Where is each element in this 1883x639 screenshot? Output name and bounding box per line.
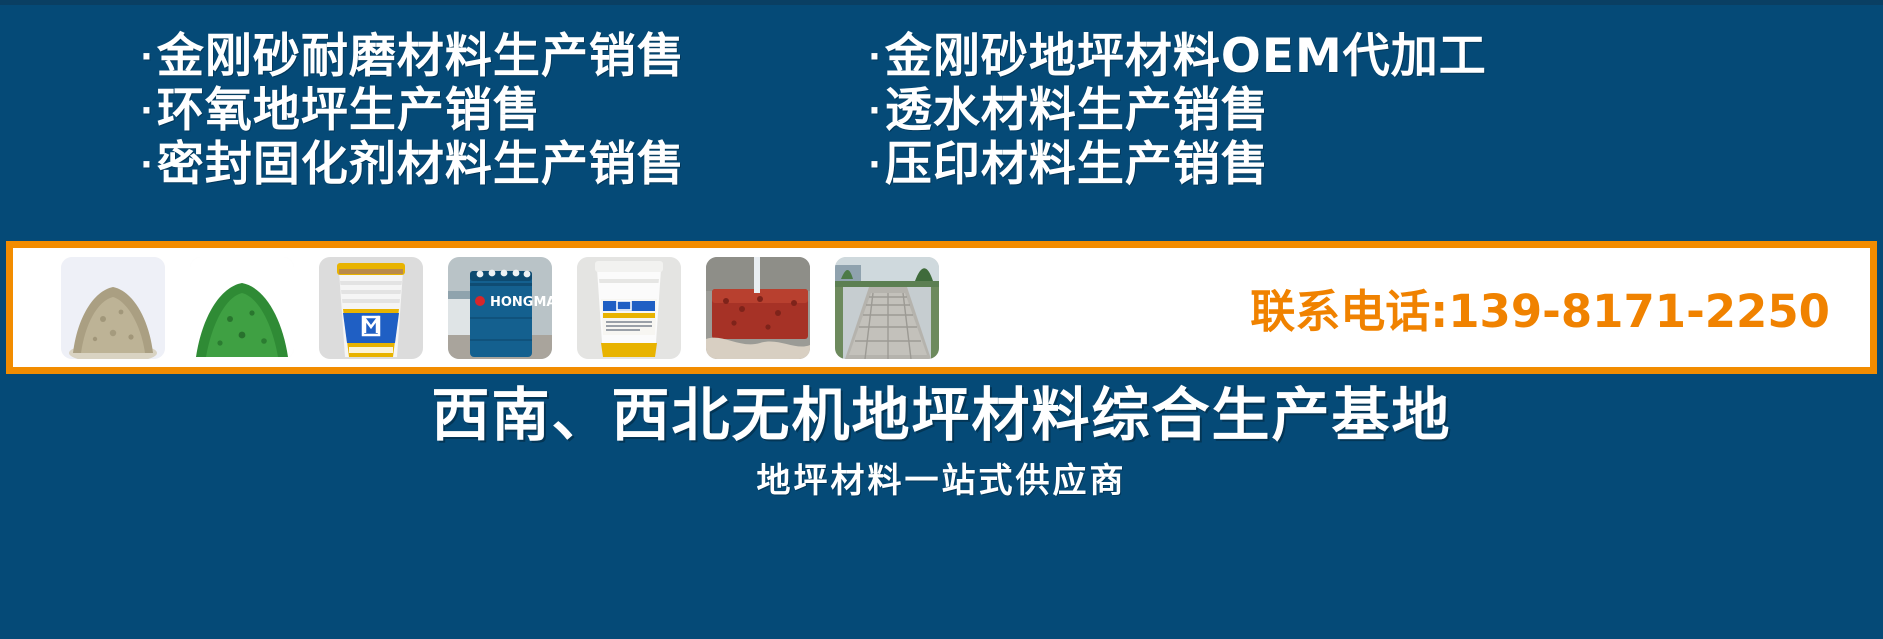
service-item: · 金刚砂耐磨材料生产销售 bbox=[140, 30, 860, 84]
page-title: 西南、西北无机地坪材料综合生产基地 bbox=[0, 382, 1883, 448]
service-list: · 金刚砂耐磨材料生产销售 · 环氧地坪生产销售 · 密封固化剂材料生产销售 ·… bbox=[0, 30, 1883, 225]
service-item-label: 金刚砂地坪材料OEM代加工 bbox=[885, 30, 1487, 84]
bullet-dot-icon: · bbox=[868, 138, 882, 192]
service-column-right: · 金刚砂地坪材料OEM代加工 · 透水材料生产销售 · 压印材料生产销售 bbox=[860, 30, 1883, 225]
bullet-dot-icon: · bbox=[140, 84, 154, 138]
bullet-dot-icon: · bbox=[140, 30, 154, 84]
service-column-left: · 金刚砂耐磨材料生产销售 · 环氧地坪生产销售 · 密封固化剂材料生产销售 bbox=[0, 30, 860, 225]
service-item: · 环氧地坪生产销售 bbox=[140, 84, 860, 138]
bullet-dot-icon: · bbox=[140, 138, 154, 192]
product-thumbnail-sealer-pail bbox=[319, 257, 423, 359]
product-thumbnail-stamped-pavement bbox=[835, 257, 939, 359]
service-item-label: 密封固化剂材料生产销售 bbox=[157, 138, 685, 192]
service-item-label: 透水材料生产销售 bbox=[885, 84, 1269, 138]
product-thumbnail-hongma-drum: HONGMA bbox=[448, 257, 552, 359]
service-item: · 压印材料生产销售 bbox=[868, 138, 1883, 192]
product-thumbnail-epoxy-pail bbox=[577, 257, 681, 359]
product-thumbnail-permeable-concrete bbox=[706, 257, 810, 359]
advertisement-banner: · 金刚砂耐磨材料生产销售 · 环氧地坪生产销售 · 密封固化剂材料生产销售 ·… bbox=[0, 0, 1883, 639]
service-item: · 金刚砂地坪材料OEM代加工 bbox=[868, 30, 1883, 84]
service-item-label: 环氧地坪生产销售 bbox=[157, 84, 541, 138]
product-thumbnail-list: HONGMA bbox=[61, 257, 939, 359]
top-divider bbox=[0, 0, 1883, 5]
bullet-dot-icon: · bbox=[868, 30, 882, 84]
service-item: · 透水材料生产销售 bbox=[868, 84, 1883, 138]
service-item-label: 金刚砂耐磨材料生产销售 bbox=[157, 30, 685, 84]
svg-text:HONGMA: HONGMA bbox=[490, 295, 552, 310]
product-thumbnail-green-aggregate bbox=[190, 257, 294, 359]
product-strip: HONGMA bbox=[6, 241, 1877, 374]
product-thumbnail-abrasive-aggregate bbox=[61, 257, 165, 359]
service-item-label: 压印材料生产销售 bbox=[885, 138, 1269, 192]
contact-phone[interactable]: 联系电话:139-8171-2250 bbox=[1250, 275, 1830, 340]
page-subtitle: 地坪材料一站式供应商 bbox=[0, 460, 1883, 502]
bullet-dot-icon: · bbox=[868, 84, 882, 138]
service-item: · 密封固化剂材料生产销售 bbox=[140, 138, 860, 192]
